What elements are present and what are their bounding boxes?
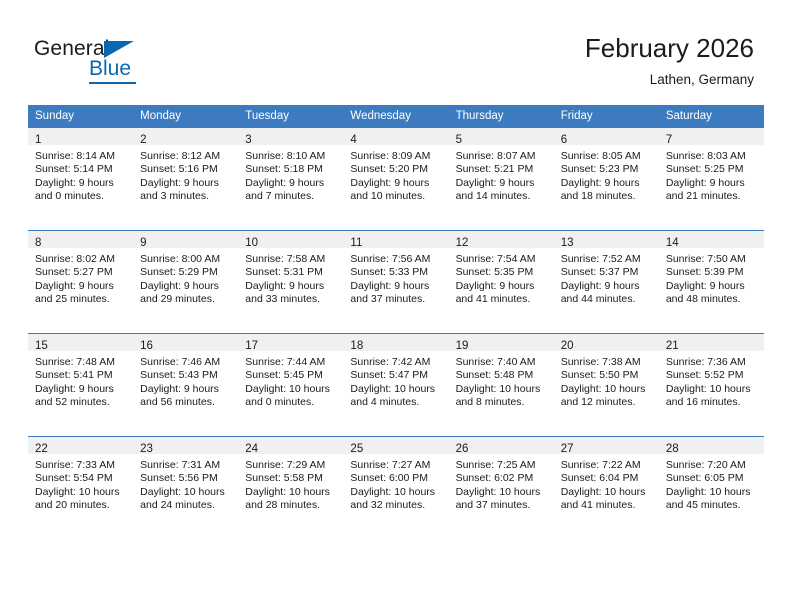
day-number-band: 23: [133, 437, 238, 454]
page-header: General Blue February 2026 Lathen, Germa…: [0, 0, 792, 100]
daylight-text-line2: and 8 minutes.: [456, 396, 548, 409]
calendar-day-cell[interactable]: 12 Sunrise: 7:54 AM Sunset: 5:35 PM Dayl…: [449, 231, 554, 334]
sunset-text: Sunset: 6:04 PM: [561, 472, 653, 485]
calendar-week-row: 22 Sunrise: 7:33 AM Sunset: 5:54 PM Dayl…: [28, 437, 764, 540]
calendar-body: 1 Sunrise: 8:14 AM Sunset: 5:14 PM Dayli…: [28, 128, 764, 540]
calendar-day-cell[interactable]: 8 Sunrise: 8:02 AM Sunset: 5:27 PM Dayli…: [28, 231, 133, 334]
calendar-week-row: 8 Sunrise: 8:02 AM Sunset: 5:27 PM Dayli…: [28, 231, 764, 334]
day-details: Sunrise: 7:54 AM Sunset: 5:35 PM Dayligh…: [449, 248, 554, 307]
calendar-day-cell[interactable]: 14 Sunrise: 7:50 AM Sunset: 5:39 PM Dayl…: [659, 231, 764, 334]
day-number: 27: [561, 443, 574, 455]
calendar-day-cell[interactable]: 19 Sunrise: 7:40 AM Sunset: 5:48 PM Dayl…: [449, 334, 554, 437]
day-details: Sunrise: 7:29 AM Sunset: 5:58 PM Dayligh…: [238, 454, 343, 513]
daylight-text-line1: Daylight: 10 hours: [666, 383, 758, 396]
daylight-text-line2: and 41 minutes.: [561, 499, 653, 512]
day-details: Sunrise: 8:00 AM Sunset: 5:29 PM Dayligh…: [133, 248, 238, 307]
daylight-text-line1: Daylight: 10 hours: [350, 383, 442, 396]
calendar-day-cell[interactable]: 21 Sunrise: 7:36 AM Sunset: 5:52 PM Dayl…: [659, 334, 764, 437]
brand-name-blue: Blue: [89, 58, 131, 79]
sunrise-text: Sunrise: 7:36 AM: [666, 356, 758, 369]
day-number: 21: [666, 340, 679, 352]
daylight-text-line1: Daylight: 9 hours: [245, 280, 337, 293]
location-subtitle: Lathen, Germany: [585, 70, 754, 89]
daylight-text-line2: and 37 minutes.: [456, 499, 548, 512]
day-details: Sunrise: 7:58 AM Sunset: 5:31 PM Dayligh…: [238, 248, 343, 307]
day-number: 4: [350, 134, 356, 146]
daylight-text-line2: and 25 minutes.: [35, 293, 127, 306]
day-details: Sunrise: 8:02 AM Sunset: 5:27 PM Dayligh…: [28, 248, 133, 307]
daylight-text-line2: and 21 minutes.: [666, 190, 758, 203]
day-details: Sunrise: 8:03 AM Sunset: 5:25 PM Dayligh…: [659, 145, 764, 204]
sunset-text: Sunset: 5:50 PM: [561, 369, 653, 382]
day-number: 2: [140, 134, 146, 146]
day-number-band: 26: [449, 437, 554, 454]
sunset-text: Sunset: 5:16 PM: [140, 163, 232, 176]
daylight-text-line2: and 24 minutes.: [140, 499, 232, 512]
sunrise-text: Sunrise: 8:14 AM: [35, 150, 127, 163]
brand-name-general: General: [34, 38, 109, 59]
day-number-band: 12: [449, 231, 554, 248]
day-details: Sunrise: 7:40 AM Sunset: 5:48 PM Dayligh…: [449, 351, 554, 410]
sunrise-text: Sunrise: 7:22 AM: [561, 459, 653, 472]
daylight-text-line2: and 0 minutes.: [245, 396, 337, 409]
day-details: Sunrise: 7:22 AM Sunset: 6:04 PM Dayligh…: [554, 454, 659, 513]
day-number-band: 22: [28, 437, 133, 454]
sunrise-text: Sunrise: 8:10 AM: [245, 150, 337, 163]
calendar-day-cell[interactable]: 26 Sunrise: 7:25 AM Sunset: 6:02 PM Dayl…: [449, 437, 554, 540]
daylight-text-line1: Daylight: 9 hours: [140, 280, 232, 293]
daylight-text-line1: Daylight: 9 hours: [140, 177, 232, 190]
day-number-band: 25: [343, 437, 448, 454]
daylight-text-line2: and 12 minutes.: [561, 396, 653, 409]
day-number: 11: [350, 237, 362, 249]
calendar-day-cell[interactable]: 23 Sunrise: 7:31 AM Sunset: 5:56 PM Dayl…: [133, 437, 238, 540]
triangle-flag-icon: [104, 41, 134, 58]
sunrise-text: Sunrise: 7:38 AM: [561, 356, 653, 369]
sunrise-text: Sunrise: 7:42 AM: [350, 356, 442, 369]
day-details: Sunrise: 7:38 AM Sunset: 5:50 PM Dayligh…: [554, 351, 659, 410]
daylight-text-line2: and 33 minutes.: [245, 293, 337, 306]
day-number: 22: [35, 443, 48, 455]
day-number: 17: [245, 340, 258, 352]
calendar-day-cell[interactable]: 15 Sunrise: 7:48 AM Sunset: 5:41 PM Dayl…: [28, 334, 133, 437]
sunset-text: Sunset: 6:00 PM: [350, 472, 442, 485]
calendar-day-cell[interactable]: 17 Sunrise: 7:44 AM Sunset: 5:45 PM Dayl…: [238, 334, 343, 437]
calendar-day-cell[interactable]: 9 Sunrise: 8:00 AM Sunset: 5:29 PM Dayli…: [133, 231, 238, 334]
sunset-text: Sunset: 5:47 PM: [350, 369, 442, 382]
daylight-text-line1: Daylight: 10 hours: [245, 486, 337, 499]
sunrise-text: Sunrise: 7:58 AM: [245, 253, 337, 266]
calendar-day-cell[interactable]: 18 Sunrise: 7:42 AM Sunset: 5:47 PM Dayl…: [343, 334, 448, 437]
day-number: 23: [140, 443, 153, 455]
sunrise-text: Sunrise: 8:00 AM: [140, 253, 232, 266]
day-number: 9: [140, 237, 146, 249]
daylight-text-line2: and 18 minutes.: [561, 190, 653, 203]
calendar-day-cell[interactable]: 6 Sunrise: 8:05 AM Sunset: 5:23 PM Dayli…: [554, 128, 659, 231]
calendar-day-cell[interactable]: 28 Sunrise: 7:20 AM Sunset: 6:05 PM Dayl…: [659, 437, 764, 540]
daylight-text-line1: Daylight: 9 hours: [35, 383, 127, 396]
calendar-day-cell[interactable]: 3 Sunrise: 8:10 AM Sunset: 5:18 PM Dayli…: [238, 128, 343, 231]
day-details: Sunrise: 7:44 AM Sunset: 5:45 PM Dayligh…: [238, 351, 343, 410]
day-number: 12: [456, 237, 469, 249]
calendar-day-cell[interactable]: 16 Sunrise: 7:46 AM Sunset: 5:43 PM Dayl…: [133, 334, 238, 437]
daylight-text-line2: and 52 minutes.: [35, 396, 127, 409]
sunrise-text: Sunrise: 8:07 AM: [456, 150, 548, 163]
calendar-day-cell[interactable]: 13 Sunrise: 7:52 AM Sunset: 5:37 PM Dayl…: [554, 231, 659, 334]
sunset-text: Sunset: 6:05 PM: [666, 472, 758, 485]
day-number: 5: [456, 134, 462, 146]
weekday-header-saturday: Saturday: [659, 105, 764, 128]
day-number-band: 13: [554, 231, 659, 248]
calendar-day-cell[interactable]: 4 Sunrise: 8:09 AM Sunset: 5:20 PM Dayli…: [343, 128, 448, 231]
calendar-header-row: Sunday Monday Tuesday Wednesday Thursday…: [28, 105, 764, 128]
weekday-header-monday: Monday: [133, 105, 238, 128]
sunrise-text: Sunrise: 7:40 AM: [456, 356, 548, 369]
day-number-band: 10: [238, 231, 343, 248]
day-number-band: 11: [343, 231, 448, 248]
sunset-text: Sunset: 6:02 PM: [456, 472, 548, 485]
daylight-text-line1: Daylight: 10 hours: [140, 486, 232, 499]
sunset-text: Sunset: 5:23 PM: [561, 163, 653, 176]
day-number: 28: [666, 443, 679, 455]
day-number: 6: [561, 134, 567, 146]
sunset-text: Sunset: 5:31 PM: [245, 266, 337, 279]
sunset-text: Sunset: 5:54 PM: [35, 472, 127, 485]
calendar-day-cell[interactable]: 27 Sunrise: 7:22 AM Sunset: 6:04 PM Dayl…: [554, 437, 659, 540]
daylight-text-line2: and 48 minutes.: [666, 293, 758, 306]
daylight-text-line1: Daylight: 9 hours: [666, 177, 758, 190]
day-number-band: 3: [238, 128, 343, 145]
daylight-text-line1: Daylight: 9 hours: [350, 177, 442, 190]
day-details: Sunrise: 8:09 AM Sunset: 5:20 PM Dayligh…: [343, 145, 448, 204]
day-number-band: 28: [659, 437, 764, 454]
page-title: February 2026: [585, 32, 754, 64]
sunrise-text: Sunrise: 8:12 AM: [140, 150, 232, 163]
weekday-header-thursday: Thursday: [449, 105, 554, 128]
day-details: Sunrise: 8:07 AM Sunset: 5:21 PM Dayligh…: [449, 145, 554, 204]
day-number: 26: [456, 443, 469, 455]
daylight-text-line1: Daylight: 10 hours: [561, 486, 653, 499]
day-details: Sunrise: 8:12 AM Sunset: 5:16 PM Dayligh…: [133, 145, 238, 204]
day-number-band: 21: [659, 334, 764, 351]
daylight-text-line1: Daylight: 10 hours: [456, 486, 548, 499]
daylight-text-line1: Daylight: 9 hours: [561, 280, 653, 293]
day-number-band: 19: [449, 334, 554, 351]
daylight-text-line2: and 7 minutes.: [245, 190, 337, 203]
sunset-text: Sunset: 5:52 PM: [666, 369, 758, 382]
day-number-band: 20: [554, 334, 659, 351]
daylight-text-line2: and 0 minutes.: [35, 190, 127, 203]
brand-logo[interactable]: General Blue: [34, 38, 264, 90]
calendar-day-cell[interactable]: 25 Sunrise: 7:27 AM Sunset: 6:00 PM Dayl…: [343, 437, 448, 540]
day-number-band: 16: [133, 334, 238, 351]
sunrise-text: Sunrise: 7:31 AM: [140, 459, 232, 472]
day-details: Sunrise: 7:42 AM Sunset: 5:47 PM Dayligh…: [343, 351, 448, 410]
calendar-week-row: 15 Sunrise: 7:48 AM Sunset: 5:41 PM Dayl…: [28, 334, 764, 437]
sunset-text: Sunset: 5:45 PM: [245, 369, 337, 382]
day-number-band: 15: [28, 334, 133, 351]
calendar-day-cell[interactable]: 5 Sunrise: 8:07 AM Sunset: 5:21 PM Dayli…: [449, 128, 554, 231]
day-number: 13: [561, 237, 574, 249]
sunrise-text: Sunrise: 8:03 AM: [666, 150, 758, 163]
daylight-text-line2: and 3 minutes.: [140, 190, 232, 203]
weekday-header-friday: Friday: [554, 105, 659, 128]
sunset-text: Sunset: 5:33 PM: [350, 266, 442, 279]
day-details: Sunrise: 7:50 AM Sunset: 5:39 PM Dayligh…: [659, 248, 764, 307]
day-number-band: 4: [343, 128, 448, 145]
day-number-band: 24: [238, 437, 343, 454]
calendar-day-cell[interactable]: 20 Sunrise: 7:38 AM Sunset: 5:50 PM Dayl…: [554, 334, 659, 437]
day-number-band: 27: [554, 437, 659, 454]
calendar-week-row: 1 Sunrise: 8:14 AM Sunset: 5:14 PM Dayli…: [28, 128, 764, 231]
day-details: Sunrise: 7:25 AM Sunset: 6:02 PM Dayligh…: [449, 454, 554, 513]
day-number-band: 7: [659, 128, 764, 145]
daylight-text-line2: and 44 minutes.: [561, 293, 653, 306]
day-details: Sunrise: 8:10 AM Sunset: 5:18 PM Dayligh…: [238, 145, 343, 204]
sunset-text: Sunset: 5:27 PM: [35, 266, 127, 279]
day-number-band: 9: [133, 231, 238, 248]
daylight-text-line1: Daylight: 9 hours: [140, 383, 232, 396]
sunset-text: Sunset: 5:20 PM: [350, 163, 442, 176]
sunrise-text: Sunrise: 7:52 AM: [561, 253, 653, 266]
daylight-text-line2: and 41 minutes.: [456, 293, 548, 306]
day-number-band: 18: [343, 334, 448, 351]
day-number-band: 6: [554, 128, 659, 145]
brand-underline: [89, 82, 136, 84]
daylight-text-line2: and 4 minutes.: [350, 396, 442, 409]
daylight-text-line2: and 14 minutes.: [456, 190, 548, 203]
weekday-header-sunday: Sunday: [28, 105, 133, 128]
day-details: Sunrise: 7:48 AM Sunset: 5:41 PM Dayligh…: [28, 351, 133, 410]
day-number: 8: [35, 237, 41, 249]
sunset-text: Sunset: 5:48 PM: [456, 369, 548, 382]
daylight-text-line2: and 29 minutes.: [140, 293, 232, 306]
daylight-text-line1: Daylight: 10 hours: [456, 383, 548, 396]
daylight-text-line1: Daylight: 10 hours: [666, 486, 758, 499]
sunrise-text: Sunrise: 7:46 AM: [140, 356, 232, 369]
day-details: Sunrise: 8:14 AM Sunset: 5:14 PM Dayligh…: [28, 145, 133, 204]
daylight-text-line1: Daylight: 9 hours: [456, 280, 548, 293]
daylight-text-line2: and 10 minutes.: [350, 190, 442, 203]
day-details: Sunrise: 7:36 AM Sunset: 5:52 PM Dayligh…: [659, 351, 764, 410]
day-number: 24: [245, 443, 258, 455]
daylight-text-line2: and 20 minutes.: [35, 499, 127, 512]
calendar-day-cell[interactable]: 1 Sunrise: 8:14 AM Sunset: 5:14 PM Dayli…: [28, 128, 133, 231]
sunset-text: Sunset: 5:58 PM: [245, 472, 337, 485]
sunrise-text: Sunrise: 8:02 AM: [35, 253, 127, 266]
weekday-header-tuesday: Tuesday: [238, 105, 343, 128]
day-details: Sunrise: 7:56 AM Sunset: 5:33 PM Dayligh…: [343, 248, 448, 307]
sunrise-text: Sunrise: 7:25 AM: [456, 459, 548, 472]
daylight-text-line1: Daylight: 9 hours: [666, 280, 758, 293]
sunrise-text: Sunrise: 7:33 AM: [35, 459, 127, 472]
sunrise-text: Sunrise: 7:50 AM: [666, 253, 758, 266]
sunset-text: Sunset: 5:39 PM: [666, 266, 758, 279]
day-number: 20: [561, 340, 574, 352]
sunrise-text: Sunrise: 7:54 AM: [456, 253, 548, 266]
day-number: 25: [350, 443, 363, 455]
day-details: Sunrise: 7:27 AM Sunset: 6:00 PM Dayligh…: [343, 454, 448, 513]
daylight-text-line1: Daylight: 9 hours: [35, 280, 127, 293]
day-number: 16: [140, 340, 153, 352]
day-number-band: 17: [238, 334, 343, 351]
sunrise-text: Sunrise: 7:29 AM: [245, 459, 337, 472]
calendar-table: Sunday Monday Tuesday Wednesday Thursday…: [28, 105, 764, 539]
daylight-text-line1: Daylight: 10 hours: [245, 383, 337, 396]
daylight-text-line2: and 45 minutes.: [666, 499, 758, 512]
day-number-band: 1: [28, 128, 133, 145]
day-number-band: 2: [133, 128, 238, 145]
daylight-text-line1: Daylight: 10 hours: [35, 486, 127, 499]
day-number: 7: [666, 134, 672, 146]
day-details: Sunrise: 8:05 AM Sunset: 5:23 PM Dayligh…: [554, 145, 659, 204]
calendar-day-cell[interactable]: 22 Sunrise: 7:33 AM Sunset: 5:54 PM Dayl…: [28, 437, 133, 540]
sunset-text: Sunset: 5:18 PM: [245, 163, 337, 176]
weekday-header-wednesday: Wednesday: [343, 105, 448, 128]
day-number: 1: [35, 134, 41, 146]
daylight-text-line1: Daylight: 9 hours: [245, 177, 337, 190]
day-number-band: 14: [659, 231, 764, 248]
sunrise-text: Sunrise: 7:48 AM: [35, 356, 127, 369]
daylight-text-line1: Daylight: 9 hours: [561, 177, 653, 190]
sunset-text: Sunset: 5:14 PM: [35, 163, 127, 176]
day-number: 15: [35, 340, 48, 352]
calendar-day-cell[interactable]: 2 Sunrise: 8:12 AM Sunset: 5:16 PM Dayli…: [133, 128, 238, 231]
day-number: 10: [245, 237, 258, 249]
calendar-day-cell[interactable]: 11 Sunrise: 7:56 AM Sunset: 5:33 PM Dayl…: [343, 231, 448, 334]
calendar-day-cell[interactable]: 7 Sunrise: 8:03 AM Sunset: 5:25 PM Dayli…: [659, 128, 764, 231]
sunset-text: Sunset: 5:41 PM: [35, 369, 127, 382]
sunset-text: Sunset: 5:21 PM: [456, 163, 548, 176]
sunset-text: Sunset: 5:43 PM: [140, 369, 232, 382]
sunset-text: Sunset: 5:25 PM: [666, 163, 758, 176]
daylight-text-line1: Daylight: 9 hours: [35, 177, 127, 190]
sunset-text: Sunset: 5:35 PM: [456, 266, 548, 279]
day-details: Sunrise: 7:33 AM Sunset: 5:54 PM Dayligh…: [28, 454, 133, 513]
sunrise-text: Sunrise: 7:27 AM: [350, 459, 442, 472]
day-details: Sunrise: 7:31 AM Sunset: 5:56 PM Dayligh…: [133, 454, 238, 513]
day-number-band: 8: [28, 231, 133, 248]
daylight-text-line2: and 32 minutes.: [350, 499, 442, 512]
daylight-text-line1: Daylight: 9 hours: [456, 177, 548, 190]
day-number: 3: [245, 134, 251, 146]
calendar-day-cell[interactable]: 10 Sunrise: 7:58 AM Sunset: 5:31 PM Dayl…: [238, 231, 343, 334]
sunset-text: Sunset: 5:37 PM: [561, 266, 653, 279]
daylight-text-line1: Daylight: 9 hours: [350, 280, 442, 293]
calendar-day-cell[interactable]: 24 Sunrise: 7:29 AM Sunset: 5:58 PM Dayl…: [238, 437, 343, 540]
sunrise-text: Sunrise: 7:20 AM: [666, 459, 758, 472]
day-details: Sunrise: 7:46 AM Sunset: 5:43 PM Dayligh…: [133, 351, 238, 410]
sunset-text: Sunset: 5:29 PM: [140, 266, 232, 279]
daylight-text-line1: Daylight: 10 hours: [350, 486, 442, 499]
daylight-text-line2: and 16 minutes.: [666, 396, 758, 409]
daylight-text-line2: and 28 minutes.: [245, 499, 337, 512]
sunrise-text: Sunrise: 7:56 AM: [350, 253, 442, 266]
sunset-text: Sunset: 5:56 PM: [140, 472, 232, 485]
day-number-band: 5: [449, 128, 554, 145]
daylight-text-line2: and 37 minutes.: [350, 293, 442, 306]
sunrise-text: Sunrise: 8:09 AM: [350, 150, 442, 163]
day-details: Sunrise: 7:20 AM Sunset: 6:05 PM Dayligh…: [659, 454, 764, 513]
day-details: Sunrise: 7:52 AM Sunset: 5:37 PM Dayligh…: [554, 248, 659, 307]
day-number: 18: [350, 340, 363, 352]
title-block: February 2026 Lathen, Germany: [585, 32, 754, 89]
calendar-page: General Blue February 2026 Lathen, Germa…: [0, 0, 792, 612]
daylight-text-line1: Daylight: 10 hours: [561, 383, 653, 396]
daylight-text-line2: and 56 minutes.: [140, 396, 232, 409]
day-number: 19: [456, 340, 469, 352]
sunrise-text: Sunrise: 7:44 AM: [245, 356, 337, 369]
day-number: 14: [666, 237, 679, 249]
sunrise-text: Sunrise: 8:05 AM: [561, 150, 653, 163]
